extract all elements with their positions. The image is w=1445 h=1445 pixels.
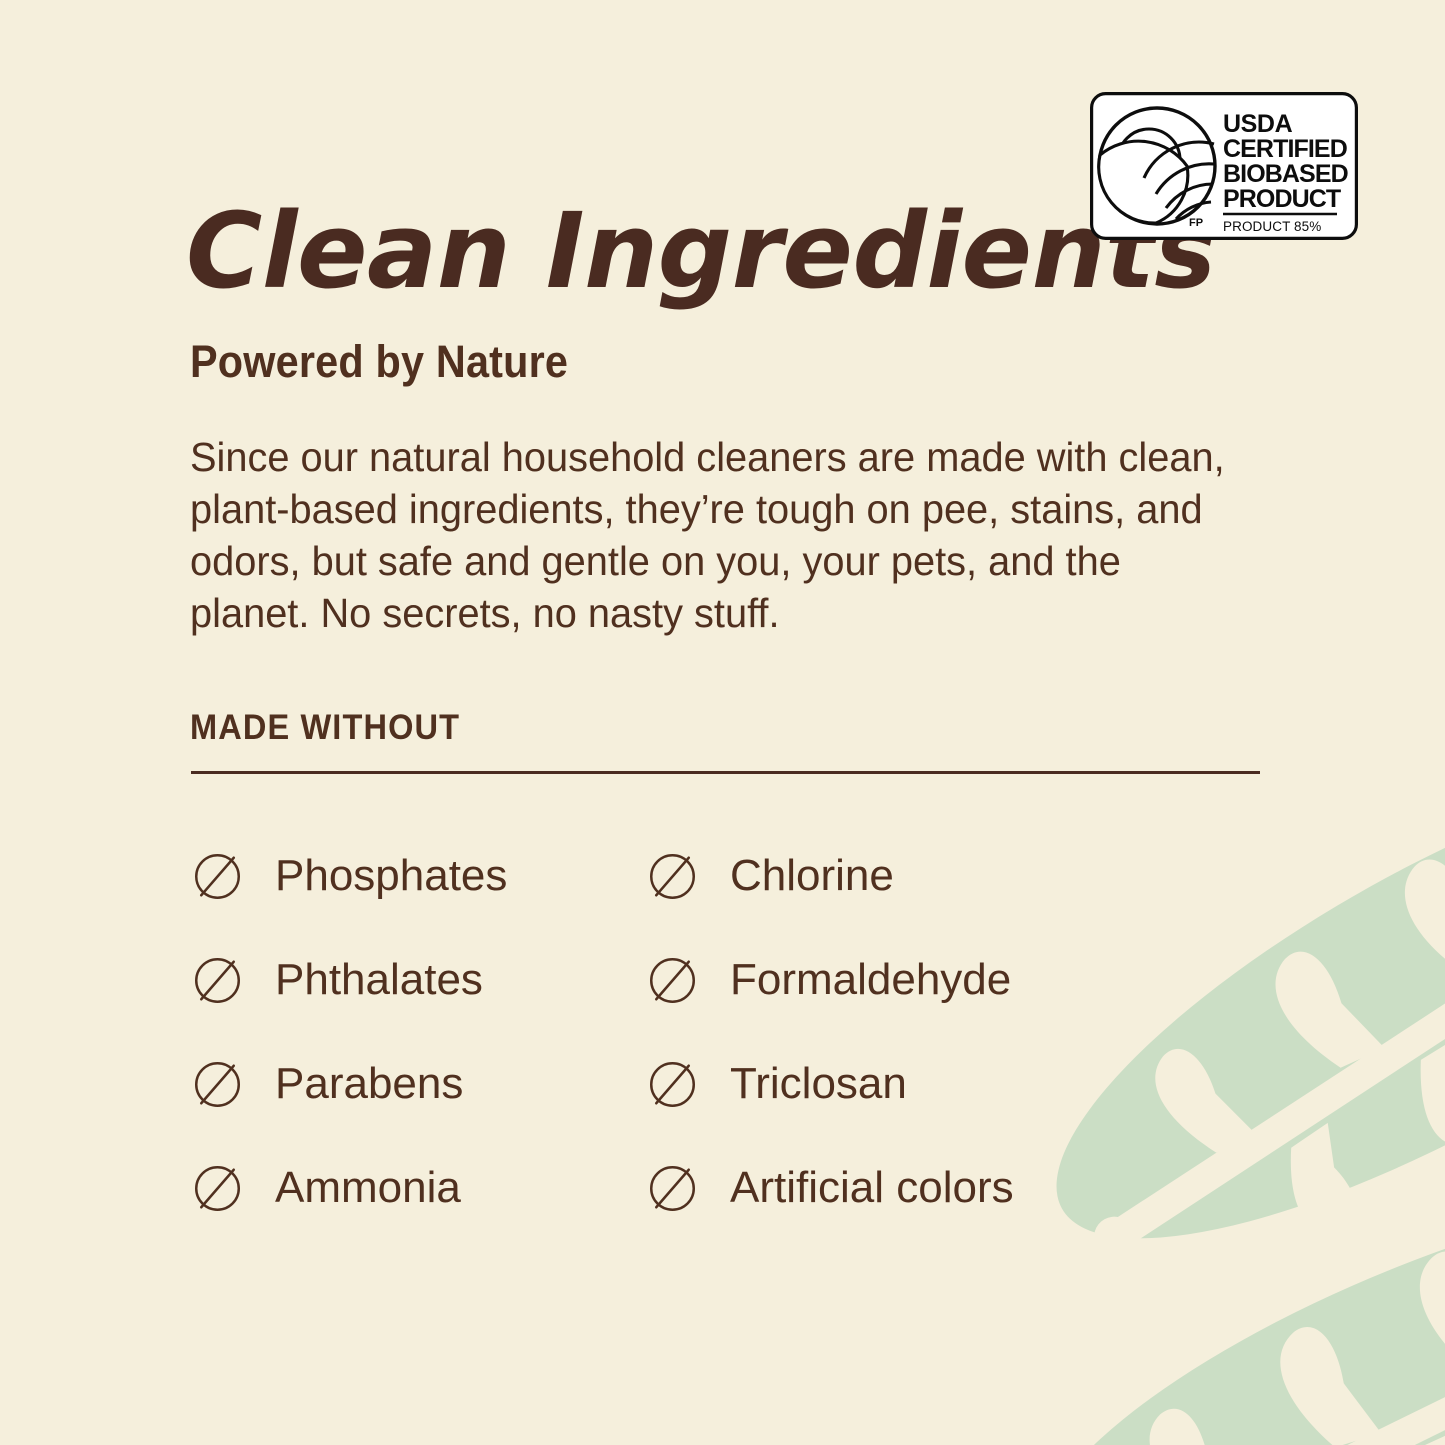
badge-line-product: PRODUCT [1223,185,1341,213]
no-symbol-icon [190,953,245,1008]
badge-line-usda: USDA [1223,110,1293,138]
list-item: Formaldehyde [645,928,1100,1032]
section-divider [191,771,1260,774]
badge-line-certified: CERTIFIED [1223,135,1347,163]
list-item-label: Triclosan [730,1062,907,1106]
list-item: Triclosan [645,1032,1100,1136]
no-symbol-icon [645,849,700,904]
no-symbol-icon [645,1161,700,1216]
list-item-label: Parabens [275,1062,463,1106]
badge-line-biobased: BIOBASED [1223,160,1348,188]
list-item-label: Artificial colors [730,1166,1014,1210]
clean-ingredients-panel: FP USDA CERTIFIED BIOBASED PRODUCT PRODU… [0,0,1445,1445]
list-item-label: Ammonia [275,1166,461,1210]
list-item: Ammonia [190,1136,645,1240]
page-subtitle: Powered by Nature [190,337,568,387]
no-symbol-icon [190,1161,245,1216]
made-without-list: Phosphates Chlorine Phthalates [190,824,1290,1240]
list-item-label: Phthalates [275,958,483,1002]
no-symbol-icon [645,1057,700,1112]
list-item: Artificial colors [645,1136,1100,1240]
list-item-label: Chlorine [730,854,894,898]
usda-certified-biobased-product-badge: FP USDA CERTIFIED BIOBASED PRODUCT PRODU… [1090,92,1358,240]
list-item: Parabens [190,1032,645,1136]
list-item: Phthalates [190,928,645,1032]
badge-fp-mark: FP [1189,217,1203,229]
no-symbol-icon [190,1057,245,1112]
made-without-heading: MADE WITHOUT [190,708,460,748]
list-item: Phosphates [190,824,645,928]
list-item-label: Formaldehyde [730,958,1011,1002]
no-symbol-icon [645,953,700,1008]
no-symbol-icon [190,849,245,904]
badge-percent-line: PRODUCT 85% [1223,219,1321,234]
list-item: Chlorine [645,824,1100,928]
list-item-label: Phosphates [275,854,507,898]
page-title: Clean Ingredients [186,198,1086,304]
intro-paragraph: Since our natural household cleaners are… [190,431,1247,639]
